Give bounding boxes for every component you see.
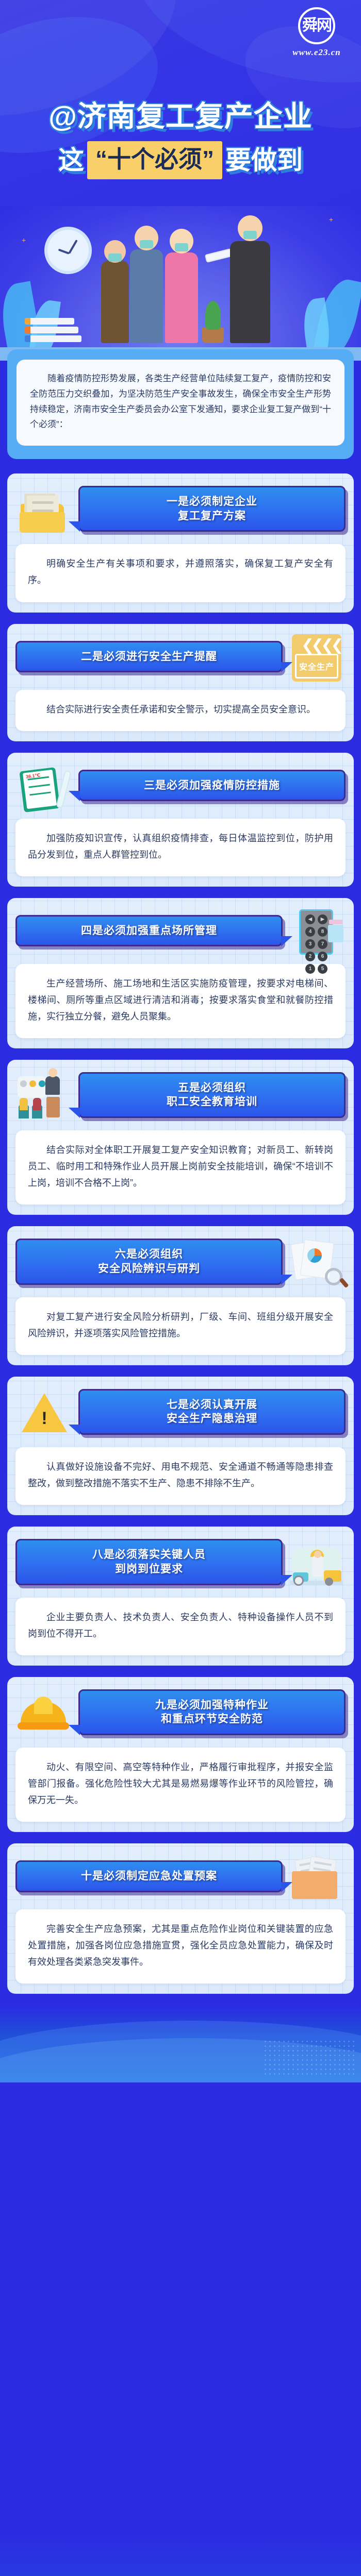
hero-section: 舜网 www.e23.cn @济南复工复产企业 这 “十个必须” 要做到 bbox=[0, 0, 361, 361]
item-title-banner: 二是必须进行安全生产提醒 bbox=[15, 641, 283, 673]
safety-sign-label: 安全生产 bbox=[295, 654, 338, 679]
hero-title-prefix: 这 bbox=[58, 146, 84, 175]
footer-dot-pattern bbox=[263, 2039, 356, 2075]
logo-site-url: www.e23.cn bbox=[286, 47, 348, 58]
item-card-3: 36.1℃ 三是必须加强疫情防控措施 加强防疫知识宣传，认真组织疫情排查，每日体… bbox=[7, 753, 354, 887]
item-card-1: 一是必须制定企业 复工复产方案 明确安全生产有关事项和要求，并遵照落实，确保复工… bbox=[7, 473, 354, 613]
item-title: 一是必须制定企业 复工复产方案 bbox=[167, 496, 257, 522]
item-card-2: ❮❮❮❮ 安全生产 二是必须进行安全生产提醒 结合实际进行安全责任承诺和安全警示… bbox=[7, 624, 354, 741]
item-body-text: 加强防疫知识宣传，认真组织疫情排查，每日体温监控到位，防护用品分发到位，重点人群… bbox=[15, 819, 346, 876]
item-title: 八是必须落实关键人员 到岗到位要求 bbox=[92, 1549, 206, 1575]
person-figure bbox=[101, 261, 129, 343]
elevator-panel-icon: ◀▶48372615 bbox=[288, 907, 346, 957]
item-body-text: 动火、有限空间、高空等特种作业，严格履行审批程序，并报安全监管部门报备。强化危险… bbox=[15, 1748, 346, 1822]
item-body-text: 对复工复产进行安全风险分析研判，厂级、车间、班组分级开展安全风险辨识，并逐项落实… bbox=[15, 1297, 346, 1355]
item-header: 六是必须组织 安全风险辨识与研判 bbox=[15, 1235, 346, 1290]
item-body-text: 完善安全生产应急预案，尤其是重点危险作业岗位和关键装置的应急处置措施，加强各岗位… bbox=[15, 1909, 346, 1984]
item-title: 十是必须制定应急处置预案 bbox=[81, 1870, 217, 1882]
item-header: 36.1℃ 三是必须加强疫情防控措施 bbox=[15, 762, 346, 811]
item-header: ! 七是必须认真开展 安全生产隐患治理 bbox=[15, 1386, 346, 1440]
person-figure-staff bbox=[230, 241, 270, 343]
face-mask-icon bbox=[108, 253, 122, 262]
hero-title-highlight: “十个必须” bbox=[87, 141, 222, 180]
hero-illustration: + + bbox=[0, 206, 361, 361]
emergency-plan-docs-icon bbox=[288, 1853, 346, 1902]
hero-title-block: @济南复工复产企业 这 “十个必须” 要做到 bbox=[0, 100, 361, 179]
item-title-banner: 八是必须落实关键人员 到岗到位要求 bbox=[15, 1539, 283, 1585]
item-body-text: 企业主要负责人、技术负责人、安全负责人、特种设备操作人员不到岗到位不得开工。 bbox=[15, 1598, 346, 1655]
item-title: 三是必须加强疫情防控措施 bbox=[144, 779, 280, 791]
sparkle-icon: + bbox=[22, 236, 26, 244]
footer-decoration bbox=[0, 2005, 361, 2082]
clipboard-thermometer-icon: 36.1℃ bbox=[15, 762, 73, 811]
person-figure bbox=[165, 252, 198, 343]
item-title: 二是必须进行安全生产提醒 bbox=[81, 651, 217, 663]
item-card-10: 十是必须制定应急处置预案 完善安全生产应急预案，尤其是重点危险作业岗位和关键装置… bbox=[7, 1843, 354, 1994]
book-stack-icon bbox=[25, 316, 74, 342]
item-title: 九是必须加强特种作业 和重点环节安全防范 bbox=[155, 1699, 269, 1725]
item-title-banner: 九是必须加强特种作业 和重点环节安全防范 bbox=[78, 1689, 346, 1735]
item-header: 八是必须落实关键人员 到岗到位要求 bbox=[15, 1536, 346, 1590]
item-header: 一是必须制定企业 复工复产方案 bbox=[15, 483, 346, 537]
item-title-banner: 一是必须制定企业 复工复产方案 bbox=[78, 486, 346, 532]
intro-paragraph: 随着疫情防控形势发展，各类生产经营单位陆续复工复产，疫情防控和安全防范压力交织叠… bbox=[17, 360, 344, 446]
report-magnifier-icon bbox=[288, 1238, 346, 1287]
infographic-page: 舜网 www.e23.cn @济南复工复产企业 这 “十个必须” 要做到 bbox=[0, 0, 361, 2576]
hero-title-line2: 这 “十个必须” 要做到 bbox=[0, 141, 361, 180]
logo-mark-icon: 舜网 bbox=[298, 7, 335, 44]
folder-document-icon bbox=[15, 485, 73, 535]
item-title-banner: 六是必须组织 安全风险辨识与研判 bbox=[15, 1239, 283, 1284]
item-body-text: 认真做好设施设备不完好、用电不规范、安全通道不畅通等隐患排查整改，做到整改措施不… bbox=[15, 1447, 346, 1505]
potted-plant-icon bbox=[202, 328, 224, 343]
item-title-banner: 十是必须制定应急处置预案 bbox=[15, 1860, 283, 1892]
item-card-9: 九是必须加强特种作业 和重点环节安全防范 动火、有限空间、高空等特种作业，严格履… bbox=[7, 1677, 354, 1833]
item-card-5: 五是必须组织 职工安全教育培训 结合实际对全体职工开展复工复产安全知识教育；对新… bbox=[7, 1060, 354, 1215]
person-figure bbox=[130, 249, 163, 343]
hero-title-line1: @济南复工复产企业 bbox=[0, 100, 361, 133]
face-mask-icon bbox=[175, 243, 188, 251]
item-header: 十是必须制定应急处置预案 bbox=[15, 1853, 346, 1902]
safety-helmet-icon bbox=[15, 1688, 73, 1738]
item-body-text: 明确安全生产有关事项和要求，并遵照落实，确保复工复产安全有序。 bbox=[15, 544, 346, 602]
warning-triangle-icon: ! bbox=[15, 1388, 73, 1437]
item-body-text: 生产经营场所、施工场地和生活区实施防疫管理，按要求对电梯间、楼梯间、厕所等重点区… bbox=[15, 964, 346, 1038]
sparkle-icon: + bbox=[329, 215, 333, 224]
item-card-6: 六是必须组织 安全风险辨识与研判 对复工复产进行安全风险分析研判，厂级、车间、班… bbox=[7, 1226, 354, 1365]
hero-title-suffix: 要做到 bbox=[225, 146, 303, 175]
item-title: 七是必须认真开展 安全生产隐患治理 bbox=[167, 1399, 257, 1425]
item-card-4: ◀▶48372615 四是必须加强重点场所管理 生产经营场所、施工场地和生活区实… bbox=[7, 898, 354, 1048]
item-title-banner: 七是必须认真开展 安全生产隐患治理 bbox=[78, 1389, 346, 1435]
item-title-banner: 五是必须组织 职工安全教育培训 bbox=[78, 1072, 346, 1118]
safety-production-sign-icon: ❮❮❮❮ 安全生产 bbox=[288, 633, 346, 683]
site-logo[interactable]: 舜网 www.e23.cn bbox=[286, 7, 348, 58]
item-title: 四是必须加强重点场所管理 bbox=[81, 925, 217, 937]
item-card-8: 八是必须落实关键人员 到岗到位要求 企业主要负责人、技术负责人、安全负责人、特种… bbox=[7, 1527, 354, 1666]
item-header: 九是必须加强特种作业 和重点环节安全防范 bbox=[15, 1686, 346, 1740]
item-title: 五是必须组织 职工安全教育培训 bbox=[167, 1082, 257, 1108]
logo-mark-text: 舜网 bbox=[302, 18, 331, 33]
construction-worker-icon bbox=[288, 1538, 346, 1588]
item-header: ◀▶48372615 四是必须加强重点场所管理 bbox=[15, 907, 346, 957]
training-classroom-icon bbox=[15, 1071, 73, 1121]
item-title-banner: 三是必须加强疫情防控措施 bbox=[78, 770, 346, 802]
item-header: 五是必须组织 职工安全教育培训 bbox=[15, 1069, 346, 1123]
item-header: ❮❮❮❮ 安全生产 二是必须进行安全生产提醒 bbox=[15, 633, 346, 683]
items-list: 一是必须制定企业 复工复产方案 明确安全生产有关事项和要求，并遵照落实，确保复工… bbox=[0, 470, 361, 1994]
wall-clock-icon bbox=[44, 227, 92, 274]
face-mask-icon bbox=[243, 231, 257, 239]
item-title-banner: 四是必须加强重点场所管理 bbox=[15, 915, 283, 947]
face-mask-icon bbox=[140, 240, 153, 248]
item-card-7: ! 七是必须认真开展 安全生产隐患治理 认真做好设施设备不完好、用电不规范、安全… bbox=[7, 1377, 354, 1516]
item-body-text: 结合实际对全体职工开展复工复产安全知识教育；对新员工、新转岗员工、临时用工和特殊… bbox=[15, 1130, 346, 1205]
item-title: 六是必须组织 安全风险辨识与研判 bbox=[98, 1248, 200, 1275]
item-body-text: 结合实际进行安全责任承诺和安全警示，切实提高全员安全意识。 bbox=[15, 690, 346, 731]
intro-panel: 随着疫情防控形势发展，各类生产经营单位陆续复工复产，疫情防控和安全防范压力交织叠… bbox=[7, 349, 354, 459]
